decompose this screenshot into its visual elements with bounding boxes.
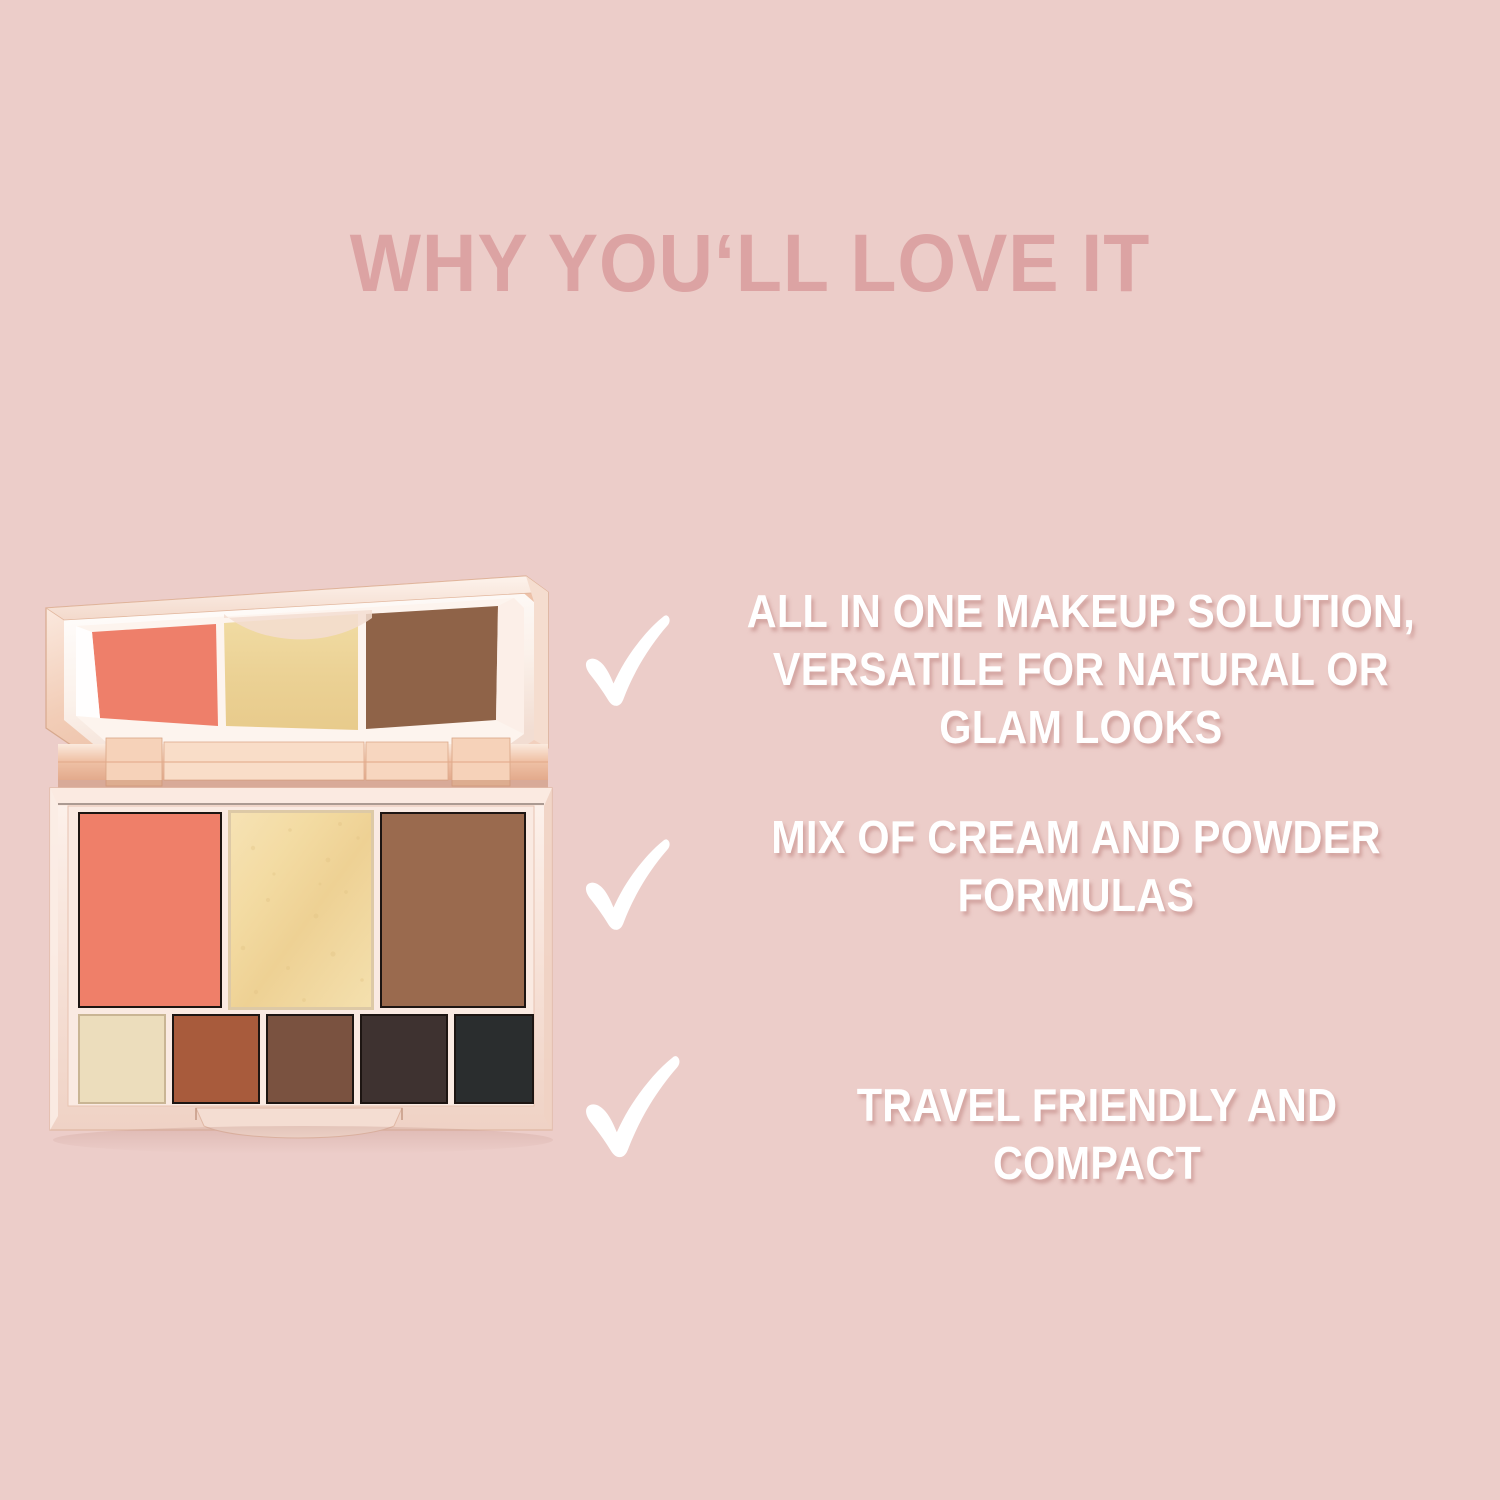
eyeshadow-pans-row xyxy=(78,1014,534,1104)
checkmark-icon xyxy=(585,612,671,708)
benefits-list: ALL IN ONE MAKEUP SOLUTION, VERSATILE FO… xyxy=(585,560,1485,1160)
eyeshadow-black xyxy=(454,1014,534,1104)
benefit-text: MIX OF CREAM AND POWDER FORMULAS xyxy=(742,808,1410,924)
product-image-makeup-palette xyxy=(28,548,588,1188)
benefit-item: MIX OF CREAM AND POWDER FORMULAS xyxy=(585,808,1447,932)
face-pans-row xyxy=(78,810,526,1010)
checkmark-icon xyxy=(585,836,671,932)
page-title: WHY YOU‘LL LOVE IT xyxy=(60,216,1440,312)
benefit-item: ALL IN ONE MAKEUP SOLUTION, VERSATILE FO… xyxy=(585,582,1485,756)
benefit-text: ALL IN ONE MAKEUP SOLUTION, VERSATILE FO… xyxy=(733,582,1446,756)
mirror-bronzer-reflection xyxy=(366,606,498,729)
eyeshadow-cream xyxy=(78,1014,166,1104)
bronzer-pan xyxy=(380,812,526,1008)
eyeshadow-brown xyxy=(266,1014,354,1104)
highlighter-pan xyxy=(228,810,374,1010)
lid-mirror xyxy=(76,598,524,760)
mirror-blush-reflection xyxy=(92,624,218,726)
benefit-text: TRAVEL FRIENDLY AND COMPACT xyxy=(748,1076,1446,1192)
blush-pan xyxy=(78,812,222,1008)
eyeshadow-rust xyxy=(172,1014,260,1104)
palette-base xyxy=(50,788,552,1138)
eyeshadow-espresso xyxy=(360,1014,448,1104)
palette-hinge xyxy=(58,738,548,792)
benefit-item: TRAVEL FRIENDLY AND COMPACT xyxy=(585,1042,1485,1192)
checkmark-icon xyxy=(585,1052,681,1160)
